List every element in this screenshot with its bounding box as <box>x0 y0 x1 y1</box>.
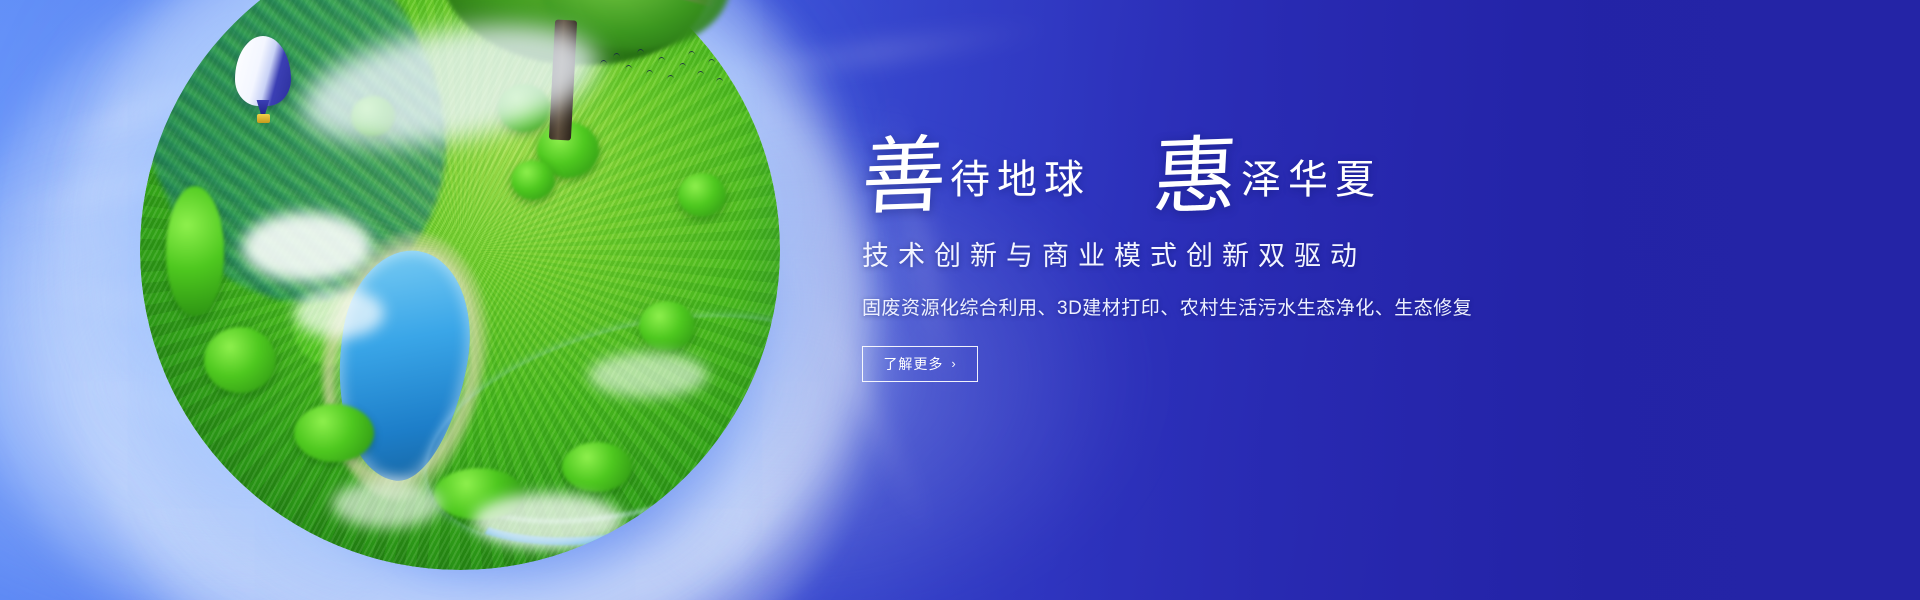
hero-copy: 善 待地球 惠 泽华夏 技术创新与商业模式创新双驱动 固废资源化综合利用、3D建… <box>862 118 1662 382</box>
learn-more-button[interactable]: 了解更多 › <box>862 346 978 382</box>
bird-icon <box>637 49 645 55</box>
headline-rest-2: 泽华夏 <box>1241 160 1382 200</box>
bird-icon <box>688 51 696 57</box>
chevron-right-icon: › <box>951 356 956 371</box>
cloud-patch <box>242 212 372 282</box>
cloud-patch <box>294 288 384 338</box>
bird-icon <box>679 63 687 69</box>
hero-subtitle: 技术创新与商业模式创新双驱动 <box>862 234 1662 273</box>
hero-description: 固废资源化综合利用、3D建材打印、农村生活污水生态净化、生态修复 <box>862 293 1662 320</box>
tree-cluster <box>678 173 726 217</box>
bird-icon <box>625 65 633 71</box>
page-title: 善 待地球 惠 泽华夏 <box>862 118 1662 214</box>
balloon-skirt <box>255 100 271 114</box>
cloud-patch <box>473 493 623 549</box>
tree-cluster <box>562 442 632 492</box>
bird-flock <box>596 44 726 88</box>
hot-air-balloon-icon <box>235 36 291 132</box>
bird-icon <box>613 53 621 59</box>
bird-icon <box>697 71 705 77</box>
bird-icon <box>667 75 675 81</box>
learn-more-label: 了解更多 <box>883 354 943 374</box>
bird-icon <box>658 57 666 63</box>
bird-icon <box>600 60 608 66</box>
tree-cluster <box>166 186 224 316</box>
hero-banner: 善 待地球 惠 泽华夏 技术创新与商业模式创新双驱动 固废资源化综合利用、3D建… <box>0 0 1920 600</box>
bird-icon <box>716 78 724 84</box>
headline-rest-1: 待地球 <box>950 160 1091 200</box>
headline-char-1: 善 <box>860 135 949 222</box>
balloon-envelope <box>235 36 291 106</box>
bird-icon <box>708 59 716 65</box>
tree-cluster <box>204 327 276 393</box>
bird-icon <box>646 70 654 76</box>
headline-char-2: 惠 <box>1151 135 1240 222</box>
tree-cluster <box>294 404 374 462</box>
balloon-basket <box>257 114 270 123</box>
tree-cluster <box>639 301 695 351</box>
